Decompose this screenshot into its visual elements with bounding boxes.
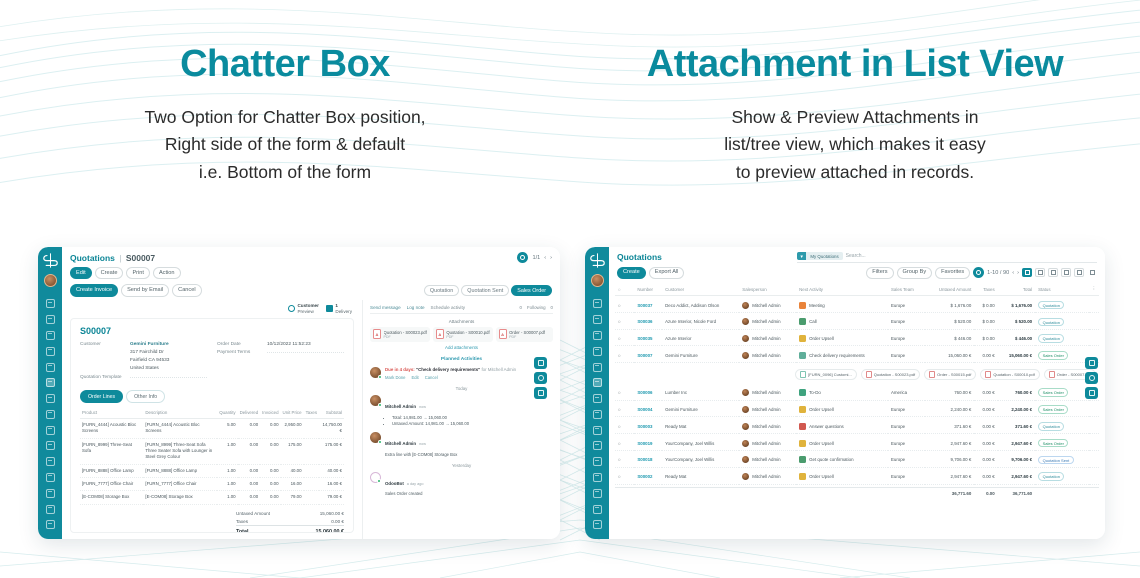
row-next-activity: Check delivery requirements — [796, 348, 888, 363]
attachment-chip[interactable]: Order - S00015.pdf — [924, 369, 976, 381]
form-pager-prev[interactable]: ‹ — [544, 255, 546, 261]
row-total: 9,706.00 € — [998, 453, 1035, 468]
row-taxes: $ 0.00 — [974, 298, 997, 313]
row-untaxed: 2,240.00 € — [925, 403, 974, 418]
search-icon-2 — [1089, 375, 1095, 381]
sidebar2-icon-purchase[interactable] — [593, 363, 602, 372]
col-sales-team[interactable]: Sales Team — [888, 283, 925, 296]
sidebar2-icon-manufacturing[interactable] — [593, 426, 602, 435]
eye-icon — [288, 305, 295, 312]
sidebar-icon-crm[interactable] — [46, 315, 55, 324]
user-avatar-2[interactable] — [591, 274, 604, 287]
table-row[interactable]: ○S00019YourCompany, Joel WillisMitchell … — [615, 436, 1099, 451]
list-create-button[interactable]: Create — [617, 267, 646, 279]
view-switch-graph[interactable] — [1074, 268, 1084, 277]
order-line-row[interactable]: [FURN_4444] Acoustic Bloc Screens[FURN_4… — [80, 418, 344, 438]
attachment-chip[interactable]: Quotation - S00023.pdf — [861, 369, 920, 381]
row-status: Quotation — [1035, 419, 1089, 434]
day-separator-yesterday: Yesterday — [370, 463, 553, 468]
status-badge: Quotation — [1038, 472, 1064, 481]
line-unit-price: 175.00 — [281, 438, 304, 464]
cancel-activity-button[interactable]: Cancel — [425, 375, 438, 380]
following-label[interactable]: Following — [527, 305, 546, 310]
chatter-panel: Send message Log note Schedule activity … — [362, 300, 560, 539]
table-row[interactable]: ○S00002Ready MatMitchell AdminOrder Upse… — [615, 470, 1099, 485]
order-line-row[interactable]: [FURN_7777] Office Chair[FURN_7777] Offi… — [80, 478, 344, 491]
row-untaxed: 2,947.60 € — [925, 470, 974, 485]
edit-button[interactable]: Edit — [70, 267, 92, 279]
col-total[interactable]: Total — [998, 283, 1035, 296]
create-invoice-button[interactable]: Create Invoice — [70, 284, 118, 296]
field-value-payment-terms[interactable] — [267, 352, 344, 353]
print-button[interactable]: Print — [126, 267, 150, 279]
create-button[interactable]: Create — [95, 267, 124, 279]
log-note-button[interactable]: Log note — [407, 305, 425, 310]
attachment-card[interactable]: AQuotation - S00010.pdfPDF — [433, 327, 493, 342]
order-line-row[interactable]: [E-COM08] Storage Box[E-COM08] Storage B… — [80, 491, 344, 504]
form-window-body: Quotations | S00007 1/1 ‹ › Edit Create … — [62, 247, 560, 539]
activity-type-icon — [799, 456, 806, 463]
activity-status-dot — [378, 375, 382, 379]
schedule-activity-button[interactable]: Schedule activity — [431, 305, 465, 310]
list-pager-next[interactable]: › — [1017, 270, 1019, 276]
field-label-order-date: Order Date — [217, 342, 263, 347]
pdf-file-icon — [929, 371, 935, 378]
tab-other-info[interactable]: Other Info — [126, 390, 165, 402]
form-sheet: S00007 CustomerGemini Furniture 317 Fair… — [70, 318, 354, 533]
line-unit-price: 40.00 — [281, 464, 304, 477]
row-salesperson: Mitchell Admin — [739, 453, 796, 468]
search-bar[interactable]: ▼ My Quotations Search... — [797, 252, 1097, 263]
row-untaxed: 2,947.60 € — [925, 436, 974, 451]
footer-untaxed: 36,771.60 — [925, 487, 974, 500]
table-row[interactable]: ○S00003Ready MatMitchell AdminAnswer que… — [615, 419, 1099, 434]
search-input[interactable]: Search... — [846, 253, 866, 259]
cancel-button[interactable]: Cancel — [172, 284, 201, 296]
line-description: [E-COM08] Storage Box — [143, 491, 217, 504]
hero-left: Chatter Box Two Option for Chatter Box p… — [0, 0, 570, 215]
field-label-quotation-template: Quotation Template — [80, 375, 126, 380]
table-row[interactable]: ○S00007Gemini FurnitureMitchell AdminChe… — [615, 348, 1099, 363]
message-bullets: Total: 14,981.00 → 15,060.00Untaxed Amou… — [392, 415, 553, 428]
view-switch-kanban[interactable] — [1035, 268, 1045, 277]
sidebar2-icon-inventory[interactable] — [593, 347, 602, 356]
row-checkbox[interactable]: ○ — [615, 298, 634, 313]
row-total: 760.00 € — [998, 386, 1035, 401]
pivot-view-icon — [1064, 270, 1069, 275]
row-checkbox[interactable]: ○ — [615, 453, 634, 468]
sidebar2-icon-timesheets[interactable] — [593, 457, 602, 466]
sidebar2-icon-recruitment[interactable] — [593, 489, 602, 498]
list-view-window: Quotations ▼ My Quotations Search... Cre… — [585, 247, 1105, 539]
hero-right-title: Attachment in List View — [570, 44, 1140, 86]
row-customer: Gemini Furniture — [662, 348, 739, 363]
sidebar2-icon-crm[interactable] — [593, 315, 602, 324]
table-row[interactable]: ○S00037Deco Addict, Addison OlsonMitchel… — [615, 298, 1099, 313]
col-unit-price[interactable]: Unit Price — [281, 408, 304, 419]
line-description: [FURN_7777] Office Chair — [143, 478, 217, 491]
smart-button-delivery[interactable]: 1Delivery — [326, 303, 352, 314]
chatter-message: Mitchell AdminnowExtra line with [E-COM0… — [370, 432, 553, 457]
list-window-body: Quotations ▼ My Quotations Search... Cre… — [609, 247, 1105, 539]
line-product: [FURN_4444] Acoustic Bloc Screens — [80, 418, 143, 438]
pdf-file-icon: A — [499, 329, 507, 339]
breadcrumb-separator: | — [119, 253, 121, 263]
breadcrumb-app[interactable]: Quotations — [70, 253, 115, 263]
calendar-view-icon — [1051, 270, 1056, 275]
row-customer: Ready Mat — [662, 419, 739, 434]
table-row[interactable]: ○S00036Azure Interior, Nicole FordMitche… — [615, 315, 1099, 330]
sidebar-icon-sales[interactable] — [46, 378, 55, 387]
line-quantity: 5.00 — [217, 418, 237, 438]
order-line-row[interactable]: [FURN_8888] Office Lamp[FURN_8888] Offic… — [80, 464, 344, 477]
row-salesperson: Mitchell Admin — [739, 403, 796, 418]
order-line-row[interactable]: [FURN_8999] Three-Seat Sofa[FURN_8999] T… — [80, 438, 344, 464]
table-row[interactable]: ○S00018YourCompany, Joel WillisMitchell … — [615, 453, 1099, 468]
row-sales-team: Europe — [888, 470, 925, 485]
row-number: S00007 — [634, 348, 662, 363]
col-next-activity[interactable]: Next Activity — [796, 283, 888, 296]
field-value-customer[interactable]: Gemini Furniture — [130, 342, 169, 347]
row-taxes: 0.00 € — [974, 453, 997, 468]
col-description[interactable]: Description — [143, 408, 217, 419]
col-status[interactable]: Status — [1035, 283, 1089, 296]
row-customer: Azure Interior, Nicole Ford — [662, 315, 739, 330]
row-checkbox[interactable]: ○ — [615, 386, 634, 401]
line-product: [FURN_8999] Three-Seat Sofa — [80, 438, 143, 464]
attachment-chip-label: Order - S00015.pdf — [937, 372, 971, 377]
tool-expand-button[interactable] — [534, 387, 547, 399]
row-salesperson: Mitchell Admin — [739, 315, 796, 330]
app-logo-icon-2 — [589, 252, 606, 269]
kanban-view-icon — [1038, 270, 1043, 275]
add-attachments-button[interactable]: Add attachments — [370, 345, 553, 350]
row-next-activity: Order Upsell — [796, 470, 888, 485]
action-button[interactable]: Action — [153, 267, 181, 279]
row-status: Quotation — [1035, 470, 1089, 485]
list-page-title: Quotations — [617, 252, 662, 262]
sidebar-icon-apps[interactable] — [46, 505, 55, 514]
row-next-activity: Order Upsell — [796, 403, 888, 418]
tool-search-button[interactable] — [534, 372, 547, 384]
row-salesperson: Mitchell Admin — [739, 470, 796, 485]
hero-left-title: Chatter Box — [0, 44, 570, 86]
row-number: S00003 — [634, 419, 662, 434]
line-quantity: 1.00 — [217, 464, 237, 477]
sidebar-icon-calendar[interactable] — [46, 331, 55, 340]
quotations-table-footer: 36,771.60 0.00 36,771.60 — [615, 487, 1099, 500]
col-delivered[interactable]: Delivered — [238, 408, 261, 419]
list-control-panel: Quotations ▼ My Quotations Search... Cre… — [609, 247, 1105, 281]
row-number: S00002 — [634, 470, 662, 485]
row-status: Quotation — [1035, 298, 1089, 313]
message-status-dot — [378, 440, 382, 444]
sidebar-icon-invoicing[interactable] — [46, 394, 55, 403]
refresh-icon-2 — [976, 270, 981, 275]
col-taxes[interactable]: Taxes — [974, 283, 997, 296]
user-avatar[interactable] — [44, 274, 57, 287]
sidebar2-icon-project[interactable] — [593, 441, 602, 450]
activity-avatar — [370, 367, 381, 378]
smart-customer-sub: Preview — [297, 309, 313, 314]
status-badge: Quotation — [1038, 301, 1064, 310]
form-fields-right: Order Date10/12/2022 11:52:23 Payment Te… — [217, 342, 344, 383]
filters-button[interactable]: Filters — [866, 267, 893, 279]
tool-star-button[interactable] — [534, 357, 547, 369]
col-customer[interactable]: Customer — [662, 283, 739, 296]
app-sidebar-2 — [585, 247, 609, 539]
taxes-value: 0.00 € — [331, 519, 344, 524]
hero-section: Chatter Box Two Option for Chatter Box p… — [0, 0, 1140, 215]
hero-right-line-2: list/tree view, which makes it easy — [570, 131, 1140, 159]
col-taxes[interactable]: Taxes — [304, 408, 319, 419]
row-checkbox[interactable]: ○ — [615, 403, 634, 418]
row-number: S00018 — [634, 453, 662, 468]
screenshot-panels: Quotations | S00007 1/1 ‹ › Edit Create … — [0, 247, 1140, 542]
chatter-message: OdooBota day agoSales Order created — [370, 472, 553, 497]
sidebar-icon-manufacturing[interactable] — [46, 426, 55, 435]
row-customer: YourCompany, Joel Willis — [662, 453, 739, 468]
tool-expand-button-2[interactable] — [1085, 387, 1098, 399]
status-badge: Sales Order — [1038, 405, 1068, 414]
search-facet-my-quotations[interactable]: ▼ My Quotations — [797, 252, 843, 260]
sidebar2-icon-website[interactable] — [593, 410, 602, 419]
salesperson-avatar — [742, 440, 749, 447]
message-body: Extra line with [E-COM08] Storage Box — [385, 452, 553, 457]
graph-view-icon — [1077, 270, 1082, 275]
activity-due: Due in 4 days: — [385, 367, 415, 372]
pdf-file-icon: A — [373, 329, 381, 339]
breadcrumb: Quotations | S00007 — [70, 253, 155, 263]
footer-taxes: 0.00 — [974, 487, 997, 500]
col-quantity[interactable]: Quantity — [217, 408, 237, 419]
sidebar2-icon-apps[interactable] — [593, 505, 602, 514]
quotations-table: ○ Number Customer Salesperson Next Activ… — [615, 281, 1099, 501]
message-body: Sales Order created — [385, 491, 553, 496]
row-sales-team: Europe — [888, 419, 925, 434]
sidebar2-icon-employees[interactable] — [593, 473, 602, 482]
attachment-chip-label: [FURN_0096] Customi... — [808, 372, 852, 377]
attachment-chip[interactable]: Quotation - S00010.pdf — [980, 369, 1039, 381]
app-logo-icon — [42, 252, 59, 269]
mark-done-button[interactable]: Mark Done — [385, 375, 405, 380]
activity-type-icon — [799, 440, 806, 447]
message-author: Mitchell Admin — [385, 404, 416, 409]
status-badge: Quotation — [1038, 422, 1064, 431]
activity-summary: "Check delivery requirements" — [416, 367, 480, 372]
sidebar-icon-settings[interactable] — [46, 520, 55, 529]
tool-search-button-2[interactable] — [1085, 372, 1098, 384]
attachment-card[interactable]: AOrder - S00007.pdfPDF — [496, 327, 553, 342]
sidebar-icon-website[interactable] — [46, 410, 55, 419]
field-value-order-date[interactable]: 10/12/2022 11:52:23 — [267, 342, 311, 347]
favorites-button[interactable]: Favorites — [935, 267, 970, 279]
table-row[interactable]: ○S00004Gemini FurnitureMitchell AdminOrd… — [615, 403, 1099, 418]
status-badge: Sales Order — [1038, 388, 1068, 397]
row-status: Sales Order — [1035, 403, 1089, 418]
status-quotation-sent[interactable]: Quotation Sent — [461, 285, 509, 296]
view-switch-list[interactable] — [1022, 268, 1032, 277]
pdf-file-icon — [1049, 371, 1055, 378]
view-switch-pivot[interactable] — [1061, 268, 1071, 277]
send-by-email-button[interactable]: Send by Email — [121, 284, 169, 296]
truck-icon — [326, 305, 333, 312]
row-sales-team: America — [888, 386, 925, 401]
status-badge: Quotation — [1038, 334, 1064, 343]
edit-activity-button[interactable]: Edit — [411, 375, 418, 380]
message-status-dot — [377, 479, 381, 483]
list-pager: 1-10 / 90 — [987, 270, 1009, 276]
sidebar-icon-purchase[interactable] — [46, 363, 55, 372]
status-badge: Sales Order — [1038, 351, 1068, 360]
customer-address-line1: 317 Fairchild Dr — [130, 350, 164, 355]
message-time: a day ago — [407, 482, 424, 486]
col-select-all[interactable]: ○ — [615, 283, 634, 296]
col-options[interactable]: ⋮ — [1089, 283, 1099, 296]
row-checkbox[interactable]: ○ — [615, 315, 634, 330]
smart-button-customer-preview[interactable]: CustomerPreview — [288, 303, 319, 314]
message-time: now — [419, 405, 426, 409]
sidebar-icon-recruitment[interactable] — [46, 489, 55, 498]
app-sidebar — [38, 247, 62, 539]
row-checkbox[interactable]: ○ — [615, 436, 634, 451]
line-taxes — [304, 491, 319, 504]
line-subtotal: 79.00 € — [319, 491, 344, 504]
row-customer: Azure Interior — [662, 332, 739, 347]
row-next-activity: Answer questions — [796, 419, 888, 434]
row-total: $ 446.00 — [998, 332, 1035, 347]
tab-order-lines[interactable]: Order Lines — [80, 390, 123, 402]
list-pager-prev[interactable]: ‹ — [1012, 270, 1014, 276]
salesperson-avatar — [742, 456, 749, 463]
sidebar2-icon-settings[interactable] — [593, 520, 602, 529]
col-untaxed-amount[interactable]: Untaxed Amount — [925, 283, 974, 296]
export-all-button[interactable]: Export All — [649, 267, 685, 279]
row-total: 371.60 € — [998, 419, 1035, 434]
chatter-header: Send message Log note Schedule activity … — [370, 305, 553, 314]
col-subtotal[interactable]: Subtotal — [319, 408, 344, 419]
total-value: 15,060.00 € — [316, 529, 344, 533]
salesperson-avatar — [742, 389, 749, 396]
salesperson-avatar — [742, 335, 749, 342]
attachment-card[interactable]: AQuotation - S00023.pdfPDF — [370, 327, 430, 342]
form-pager: 1/1 — [532, 255, 540, 261]
status-badge: Sales Order — [1038, 439, 1068, 448]
attachments-row: AQuotation - S00023.pdfPDFAQuotation - S… — [370, 327, 553, 342]
col-salesperson[interactable]: Salesperson — [739, 283, 796, 296]
line-delivered: 0.00 — [238, 464, 261, 477]
row-sales-team: Europe — [888, 436, 925, 451]
activity-type-icon — [799, 389, 806, 396]
attachment-type: PDF — [384, 335, 427, 339]
row-sales-team: Europe — [888, 315, 925, 330]
view-switch-activity[interactable] — [1087, 268, 1097, 277]
line-unit-price: 79.00 — [281, 491, 304, 504]
tool-star-button-2[interactable] — [1085, 357, 1098, 369]
line-description: [FURN_8888] Office Lamp — [143, 464, 217, 477]
field-value-quotation-template[interactable] — [130, 377, 207, 378]
activity-type-icon — [799, 406, 806, 413]
sidebar2-icon-discuss[interactable] — [593, 299, 602, 308]
row-checkbox[interactable]: ○ — [615, 332, 634, 347]
footer-total: 36,771.60 — [998, 487, 1035, 500]
row-sales-team: Europe — [888, 332, 925, 347]
table-row[interactable]: ○S00035Azure InteriorMitchell AdminOrder… — [615, 332, 1099, 347]
list-refresh-button[interactable] — [973, 267, 984, 278]
chatter-message: Mitchell AdminnowTotal: 14,981.00 → 15,0… — [370, 395, 553, 427]
sidebar2-icon-calendar[interactable] — [593, 331, 602, 340]
view-switch-calendar[interactable] — [1048, 268, 1058, 277]
sidebar-icon-employees[interactable] — [46, 473, 55, 482]
col-number[interactable]: Number — [634, 283, 662, 296]
send-message-button[interactable]: Send message — [370, 305, 401, 310]
status-sales-order[interactable]: Sales Order — [511, 285, 552, 296]
hero-left-line-1: Two Option for Chatter Box position, — [0, 104, 570, 132]
salesperson-avatar — [742, 302, 749, 309]
form-pager-next[interactable]: › — [550, 255, 552, 261]
form-refresh-button[interactable] — [517, 252, 528, 263]
sidebar-icon-project[interactable] — [46, 441, 55, 450]
line-product: [FURN_7777] Office Chair — [80, 478, 143, 491]
attachment-chip[interactable]: [FURN_0096] Customi... — [795, 369, 857, 381]
row-next-activity: Call — [796, 315, 888, 330]
row-customer: Ready Mat — [662, 470, 739, 485]
sidebar2-icon-invoicing[interactable] — [593, 394, 602, 403]
followers-count[interactable]: 0 — [520, 305, 522, 310]
hero-right-line-3: to preview attached in records. — [570, 159, 1140, 187]
line-quantity: 1.00 — [217, 478, 237, 491]
line-delivered: 0.00 — [238, 491, 261, 504]
table-row[interactable]: ○S00006Lumber IncMitchell AdminTo-DoAmer… — [615, 386, 1099, 401]
row-status: Sales Order — [1035, 386, 1089, 401]
attachment-chip-label: Quotation - S00010.pdf — [993, 372, 1034, 377]
filter-icon: ▼ — [797, 252, 806, 260]
row-taxes: 0.00 € — [974, 348, 997, 363]
attachments-title: Attachments — [370, 319, 553, 324]
line-delivered: 0.00 — [238, 418, 261, 438]
row-customer: Deco Addict, Addison Olson — [662, 298, 739, 313]
hero-right-subtitle: Show & Preview Attachments in list/tree … — [570, 104, 1140, 187]
followers-count-2[interactable]: 0 — [551, 305, 553, 310]
sidebar-icon-discuss[interactable] — [46, 299, 55, 308]
row-number: S00019 — [634, 436, 662, 451]
message-time: now — [419, 442, 426, 446]
row-checkbox[interactable]: ○ — [615, 348, 634, 363]
message-avatar — [370, 432, 381, 443]
hero-right-line-1: Show & Preview Attachments in — [570, 104, 1140, 132]
line-subtotal: 16.00 € — [319, 478, 344, 491]
sidebar-icon-inventory[interactable] — [46, 347, 55, 356]
sidebar2-icon-sales[interactable] — [593, 378, 602, 387]
row-number: S00004 — [634, 403, 662, 418]
message-avatar — [370, 395, 381, 406]
row-checkbox[interactable]: ○ — [615, 470, 634, 485]
line-subtotal: 14,750.00 € — [319, 418, 344, 438]
line-invoiced: 0.00 — [260, 418, 280, 438]
salesperson-avatar — [742, 423, 749, 430]
pdf-file-icon: A — [436, 329, 444, 339]
activity-type-icon — [799, 473, 806, 480]
line-product: [FURN_8888] Office Lamp — [80, 464, 143, 477]
col-product[interactable]: Product — [80, 408, 143, 419]
row-checkbox[interactable]: ○ — [615, 419, 634, 434]
sidebar-icon-timesheets[interactable] — [46, 457, 55, 466]
col-invoiced[interactable]: Invoiced — [260, 408, 280, 419]
group-by-button[interactable]: Group By — [897, 267, 933, 279]
day-separator-today: Today — [370, 386, 553, 391]
form-control-panel: Quotations | S00007 1/1 ‹ › Edit Create … — [62, 247, 560, 300]
status-quotation[interactable]: Quotation — [424, 285, 459, 296]
